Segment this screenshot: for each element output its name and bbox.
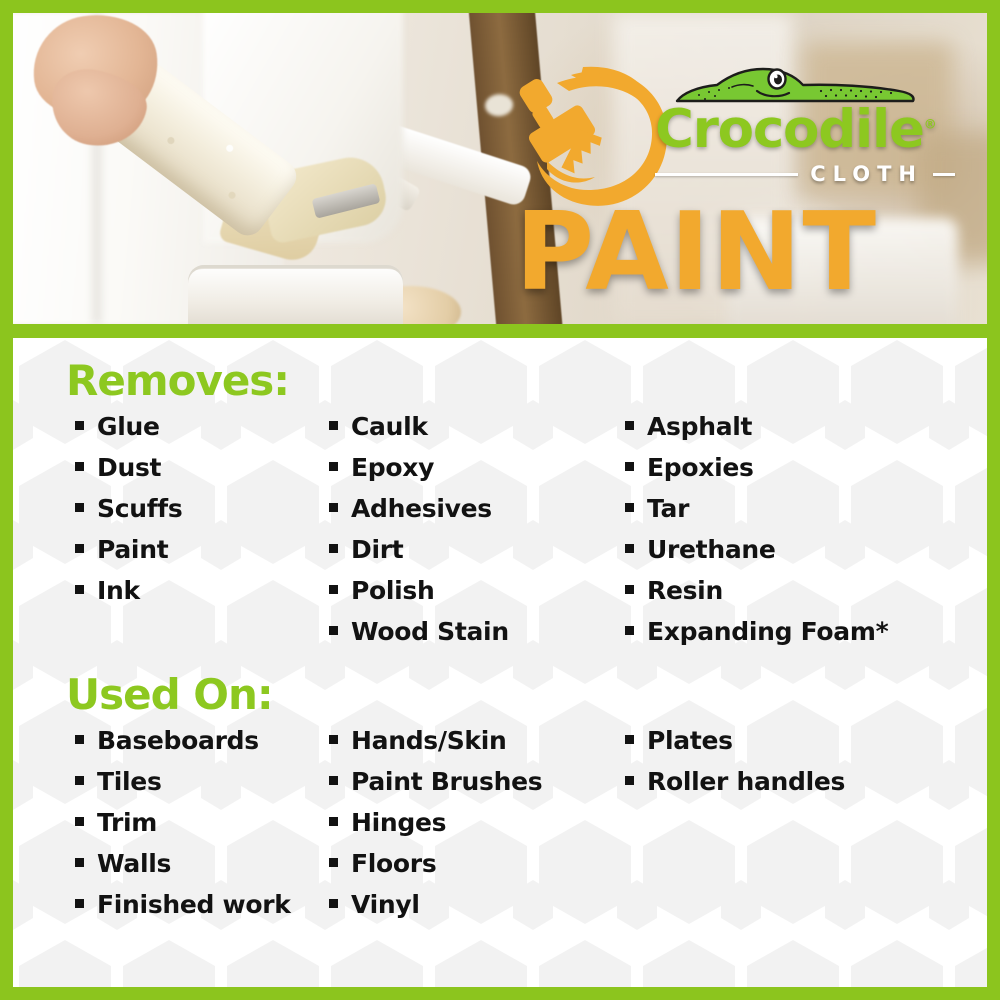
- list-item-label: Walls: [97, 851, 171, 876]
- features-panel: Removes: Glue Dust Scuffs Paint Ink Caul…: [13, 338, 987, 987]
- list-item: Hands/Skin: [329, 728, 613, 753]
- bullet-square-icon: [625, 735, 634, 744]
- product-infographic: Crocodile® CLOTH PAINT: [0, 0, 1000, 1000]
- bullet-square-icon: [625, 462, 634, 471]
- list-item: Finished work: [75, 892, 318, 917]
- brand-subtitle-text: CLOTH: [798, 162, 933, 186]
- list-item-label: Scuffs: [97, 496, 182, 521]
- list-item-label: Vinyl: [351, 892, 420, 917]
- bullet-square-icon: [625, 544, 634, 553]
- section-used-on-columns: Baseboards Tiles Trim Walls Finished wor…: [13, 728, 987, 933]
- features-content: Removes: Glue Dust Scuffs Paint Ink Caul…: [13, 338, 987, 987]
- list-item-label: Dirt: [351, 537, 403, 562]
- list-item-label: Glue: [97, 414, 160, 439]
- list-item-label: Urethane: [647, 537, 776, 562]
- list-item: Glue: [75, 414, 318, 439]
- list-item-label: Tiles: [97, 769, 162, 794]
- list-item: Epoxy: [329, 455, 613, 480]
- list-item: Scuffs: [75, 496, 318, 521]
- list-item-label: Finished work: [97, 892, 291, 917]
- list-item: Baseboards: [75, 728, 318, 753]
- list-item-label: Hinges: [351, 810, 446, 835]
- list-item: Paint Brushes: [329, 769, 613, 794]
- brand-logo-lockup: Crocodile® CLOTH PAINT: [503, 59, 963, 309]
- list-item-label: Polish: [351, 578, 435, 603]
- registered-trademark-symbol: ®: [924, 117, 937, 132]
- list-item-label: Adhesives: [351, 496, 492, 521]
- bullet-square-icon: [329, 544, 338, 553]
- list-item-label: Baseboards: [97, 728, 259, 753]
- list-item: Caulk: [329, 414, 613, 439]
- list-item-label: Floors: [351, 851, 436, 876]
- list-item: Vinyl: [329, 892, 613, 917]
- list-item: Tiles: [75, 769, 318, 794]
- used-on-column-2: Hands/Skin Paint Brushes Hinges Floors V…: [318, 728, 613, 933]
- bullet-square-icon: [625, 626, 634, 635]
- section-used-on-title: Used On:: [66, 674, 987, 716]
- list-item-label: Plates: [647, 728, 733, 753]
- bullet-square-icon: [329, 776, 338, 785]
- section-removes-title: Removes:: [66, 360, 987, 402]
- list-item: Resin: [625, 578, 987, 603]
- bullet-square-icon: [329, 503, 338, 512]
- list-item: Polish: [329, 578, 613, 603]
- bullet-square-icon: [329, 626, 338, 635]
- used-on-column-1: Baseboards Tiles Trim Walls Finished wor…: [13, 728, 318, 933]
- bullet-square-icon: [75, 817, 84, 826]
- list-item-label: Expanding Foam*: [647, 619, 888, 644]
- list-item-label: Tar: [647, 496, 689, 521]
- brand-name-block: Crocodile® CLOTH: [655, 69, 960, 186]
- photo-paint-bucket: [188, 265, 403, 324]
- brand-name-text: Crocodile: [655, 99, 924, 160]
- brand-rule-left: [655, 173, 798, 176]
- bullet-square-icon: [75, 776, 84, 785]
- list-item: Plates: [625, 728, 987, 753]
- list-item: Roller handles: [625, 769, 987, 794]
- brand-subtitle-row: CLOTH: [655, 162, 955, 186]
- bullet-square-icon: [329, 817, 338, 826]
- bullet-square-icon: [625, 421, 634, 430]
- list-item-label: Paint: [97, 537, 168, 562]
- section-used-on: Used On: Baseboards Tiles Trim Walls Fin…: [13, 674, 987, 933]
- brand-rule-right: [933, 173, 955, 176]
- bullet-square-icon: [75, 544, 84, 553]
- section-removes: Removes: Glue Dust Scuffs Paint Ink Caul…: [13, 360, 987, 660]
- bullet-square-icon: [75, 735, 84, 744]
- list-item: Urethane: [625, 537, 987, 562]
- list-item: Epoxies: [625, 455, 987, 480]
- brand-wordmark: Crocodile®: [655, 103, 960, 156]
- list-item: Trim: [75, 810, 318, 835]
- removes-column-3: Asphalt Epoxies Tar Urethane Resin Expan…: [613, 414, 987, 660]
- list-item-label: Asphalt: [647, 414, 752, 439]
- list-item-label: Caulk: [351, 414, 428, 439]
- list-item: Dirt: [329, 537, 613, 562]
- list-item: Adhesives: [329, 496, 613, 521]
- removes-column-1: Glue Dust Scuffs Paint Ink: [13, 414, 318, 660]
- bullet-square-icon: [75, 899, 84, 908]
- list-item: Asphalt: [625, 414, 987, 439]
- list-item: Wood Stain: [329, 619, 613, 644]
- list-item-label: Epoxies: [647, 455, 754, 480]
- used-on-column-3: Plates Roller handles: [613, 728, 987, 933]
- bullet-square-icon: [329, 858, 338, 867]
- list-item: Walls: [75, 851, 318, 876]
- bullet-square-icon: [329, 421, 338, 430]
- list-item-label: Dust: [97, 455, 161, 480]
- bullet-square-icon: [75, 421, 84, 430]
- list-item: Hinges: [329, 810, 613, 835]
- bullet-square-icon: [625, 503, 634, 512]
- product-category-title: PAINT: [515, 199, 877, 307]
- bullet-square-icon: [329, 899, 338, 908]
- list-item: Paint: [75, 537, 318, 562]
- green-divider-bar: [13, 324, 987, 338]
- hero-photo-banner: Crocodile® CLOTH PAINT: [13, 13, 987, 324]
- list-item: Expanding Foam*: [625, 619, 987, 644]
- list-item-label: Epoxy: [351, 455, 434, 480]
- bullet-square-icon: [625, 776, 634, 785]
- list-item: Tar: [625, 496, 987, 521]
- list-item: Floors: [329, 851, 613, 876]
- bullet-square-icon: [329, 462, 338, 471]
- list-item-label: Trim: [97, 810, 157, 835]
- list-item-label: Wood Stain: [351, 619, 509, 644]
- list-item: Ink: [75, 578, 318, 603]
- section-removes-columns: Glue Dust Scuffs Paint Ink Caulk Epoxy A…: [13, 414, 987, 660]
- removes-column-2: Caulk Epoxy Adhesives Dirt Polish Wood S…: [318, 414, 613, 660]
- list-item-label: Resin: [647, 578, 723, 603]
- list-item-label: Paint Brushes: [351, 769, 542, 794]
- list-item-label: Hands/Skin: [351, 728, 507, 753]
- bullet-square-icon: [75, 858, 84, 867]
- bullet-square-icon: [329, 735, 338, 744]
- bullet-square-icon: [75, 585, 84, 594]
- list-item-label: Ink: [97, 578, 140, 603]
- bullet-square-icon: [75, 462, 84, 471]
- bullet-square-icon: [625, 585, 634, 594]
- list-item-label: Roller handles: [647, 769, 845, 794]
- bullet-square-icon: [75, 503, 84, 512]
- list-item: Dust: [75, 455, 318, 480]
- bullet-square-icon: [329, 585, 338, 594]
